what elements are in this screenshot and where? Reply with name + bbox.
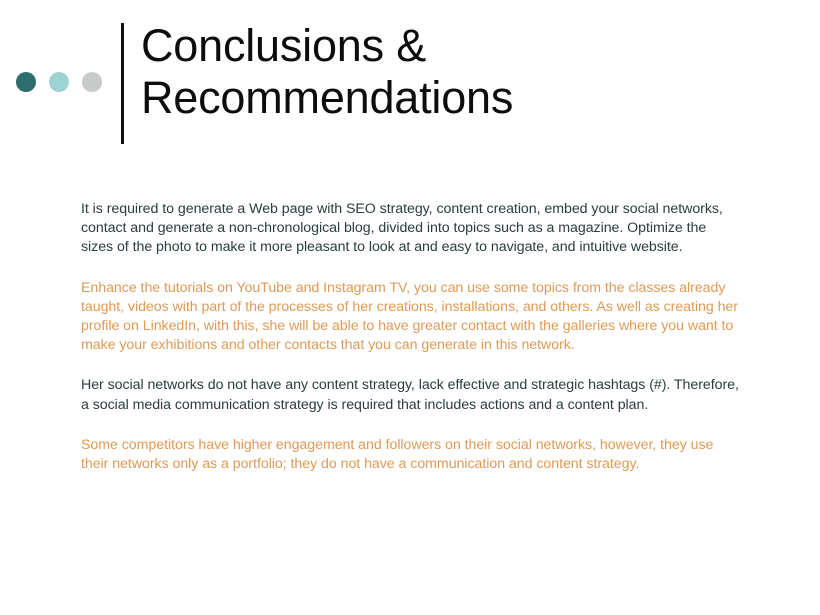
body-paragraph-1: It is required to generate a Web page wi… xyxy=(81,200,741,258)
slide-body: It is required to generate a Web page wi… xyxy=(81,200,741,474)
slide-header: Conclusions & Recommendations xyxy=(0,0,820,170)
body-paragraph-3: Her social networks do not have any cont… xyxy=(81,376,741,414)
dot-light-gray-icon xyxy=(82,72,102,92)
body-paragraph-2: Enhance the tutorials on YouTube and Ins… xyxy=(81,279,741,356)
decorative-dot-group xyxy=(16,72,102,92)
body-paragraph-4: Some competitors have higher engagement … xyxy=(81,436,741,474)
title-vertical-divider xyxy=(121,23,124,144)
presentation-slide: Conclusions & Recommendations It is requ… xyxy=(0,0,820,615)
dot-dark-teal-icon xyxy=(16,72,36,92)
dot-light-teal-icon xyxy=(49,72,69,92)
page-title: Conclusions & Recommendations xyxy=(141,20,791,124)
